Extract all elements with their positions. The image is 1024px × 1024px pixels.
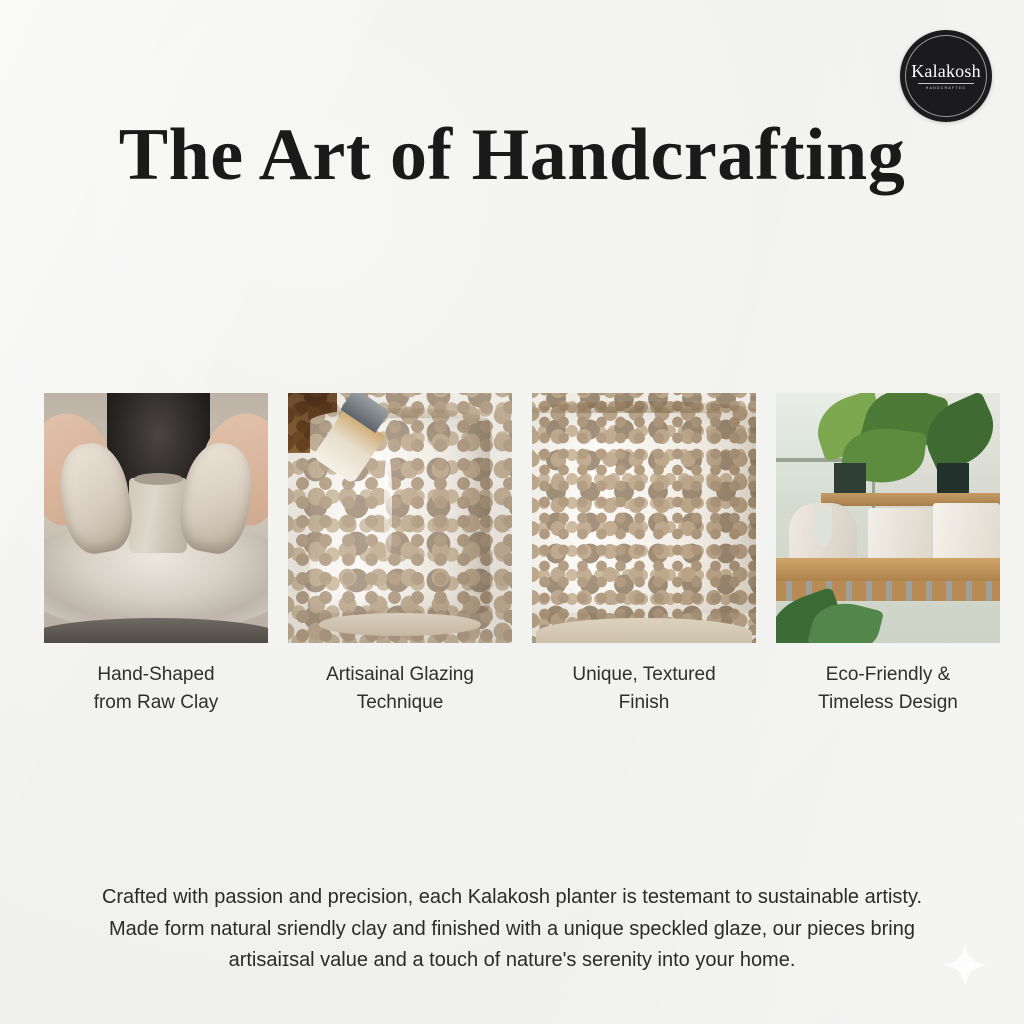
logo-divider	[918, 83, 974, 84]
gallery-item-texture[interactable]: Unique, Textured Finish	[532, 393, 756, 716]
brand-logo-badge[interactable]: Kalakosh HANDCRAFTED	[900, 30, 992, 122]
gallery-caption: Artisainal Glazing Technique	[288, 661, 512, 716]
gallery-item-hand-shaped[interactable]: Hand-Shaped from Raw Clay	[44, 393, 268, 716]
caption-line-1: Artisainal Glazing	[326, 664, 474, 685]
gallery-item-eco-design[interactable]: Eco-Friendly & Timeless Design	[776, 393, 1000, 716]
photo-speckled-texture	[532, 393, 756, 643]
caption-line-2: Timeless Design	[818, 692, 958, 713]
caption-line-1: Eco-Friendly &	[826, 664, 951, 685]
photo-shelf-planters	[776, 393, 1000, 643]
four-point-star-icon	[942, 942, 988, 988]
page-title: The Art of Handcrafting	[0, 118, 1024, 192]
gallery-caption: Unique, Textured Finish	[532, 661, 756, 716]
gallery-item-glazing[interactable]: Artisainal Glazing Technique	[288, 393, 512, 716]
gallery-caption: Eco-Friendly & Timeless Design	[776, 661, 1000, 716]
photo-glazing-brush	[288, 393, 512, 643]
caption-line-2: Finish	[619, 692, 670, 713]
description-line-3: artisaiɪsal value and a touch of nature'…	[0, 945, 1024, 977]
poster-canvas: Kalakosh HANDCRAFTED The Art of Handcraf…	[0, 0, 1024, 1024]
description-line-1: Crafted with passion and precision, each…	[0, 882, 1024, 914]
process-gallery: Hand-Shaped from Raw Clay Artisainal Gla…	[44, 393, 980, 716]
photo-potter-hands	[44, 393, 268, 643]
gallery-caption: Hand-Shaped from Raw Clay	[44, 661, 268, 716]
logo-tagline: HANDCRAFTED	[926, 86, 966, 90]
caption-line-2: from Raw Clay	[94, 692, 219, 713]
logo-wordmark: Kalakosh	[911, 62, 981, 80]
caption-line-1: Hand-Shaped	[97, 664, 214, 685]
caption-line-2: Technique	[357, 692, 444, 713]
description-line-2: Made form natural sriendly clay and fini…	[0, 914, 1024, 946]
caption-line-1: Unique, Textured	[572, 664, 715, 685]
footer-description: Crafted with passion and precision, each…	[0, 882, 1024, 977]
